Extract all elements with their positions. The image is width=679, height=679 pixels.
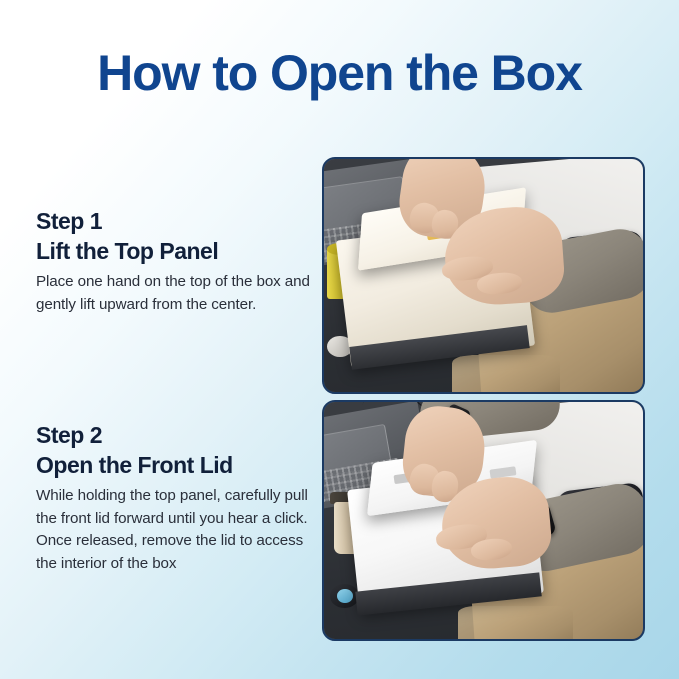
step-1-photo-frame [322, 157, 645, 394]
step-2-text-block: Step 2 Open the Front Lid While holding … [36, 421, 314, 575]
step-1-photo [324, 159, 643, 392]
step-2-photo [324, 402, 643, 639]
step-1-text-block: Step 1 Lift the Top Panel Place one hand… [36, 207, 314, 316]
step-1-number: Step 1 [36, 207, 314, 236]
infographic-root: How to Open the Box Step 1 Lift the Top … [0, 0, 679, 679]
step-2-photo-frame [322, 400, 645, 641]
khaki-trousers-knee [458, 606, 573, 639]
step-2-heading: Open the Front Lid [36, 450, 314, 480]
step-1-body: Place one hand on the top of the box and… [36, 271, 314, 316]
step-2-number: Step 2 [36, 421, 314, 450]
step-2-body: While holding the top panel, carefully p… [36, 485, 314, 575]
khaki-trousers-knee [452, 355, 560, 392]
step-1-heading: Lift the Top Panel [36, 236, 314, 266]
page-title: How to Open the Box [0, 44, 679, 102]
